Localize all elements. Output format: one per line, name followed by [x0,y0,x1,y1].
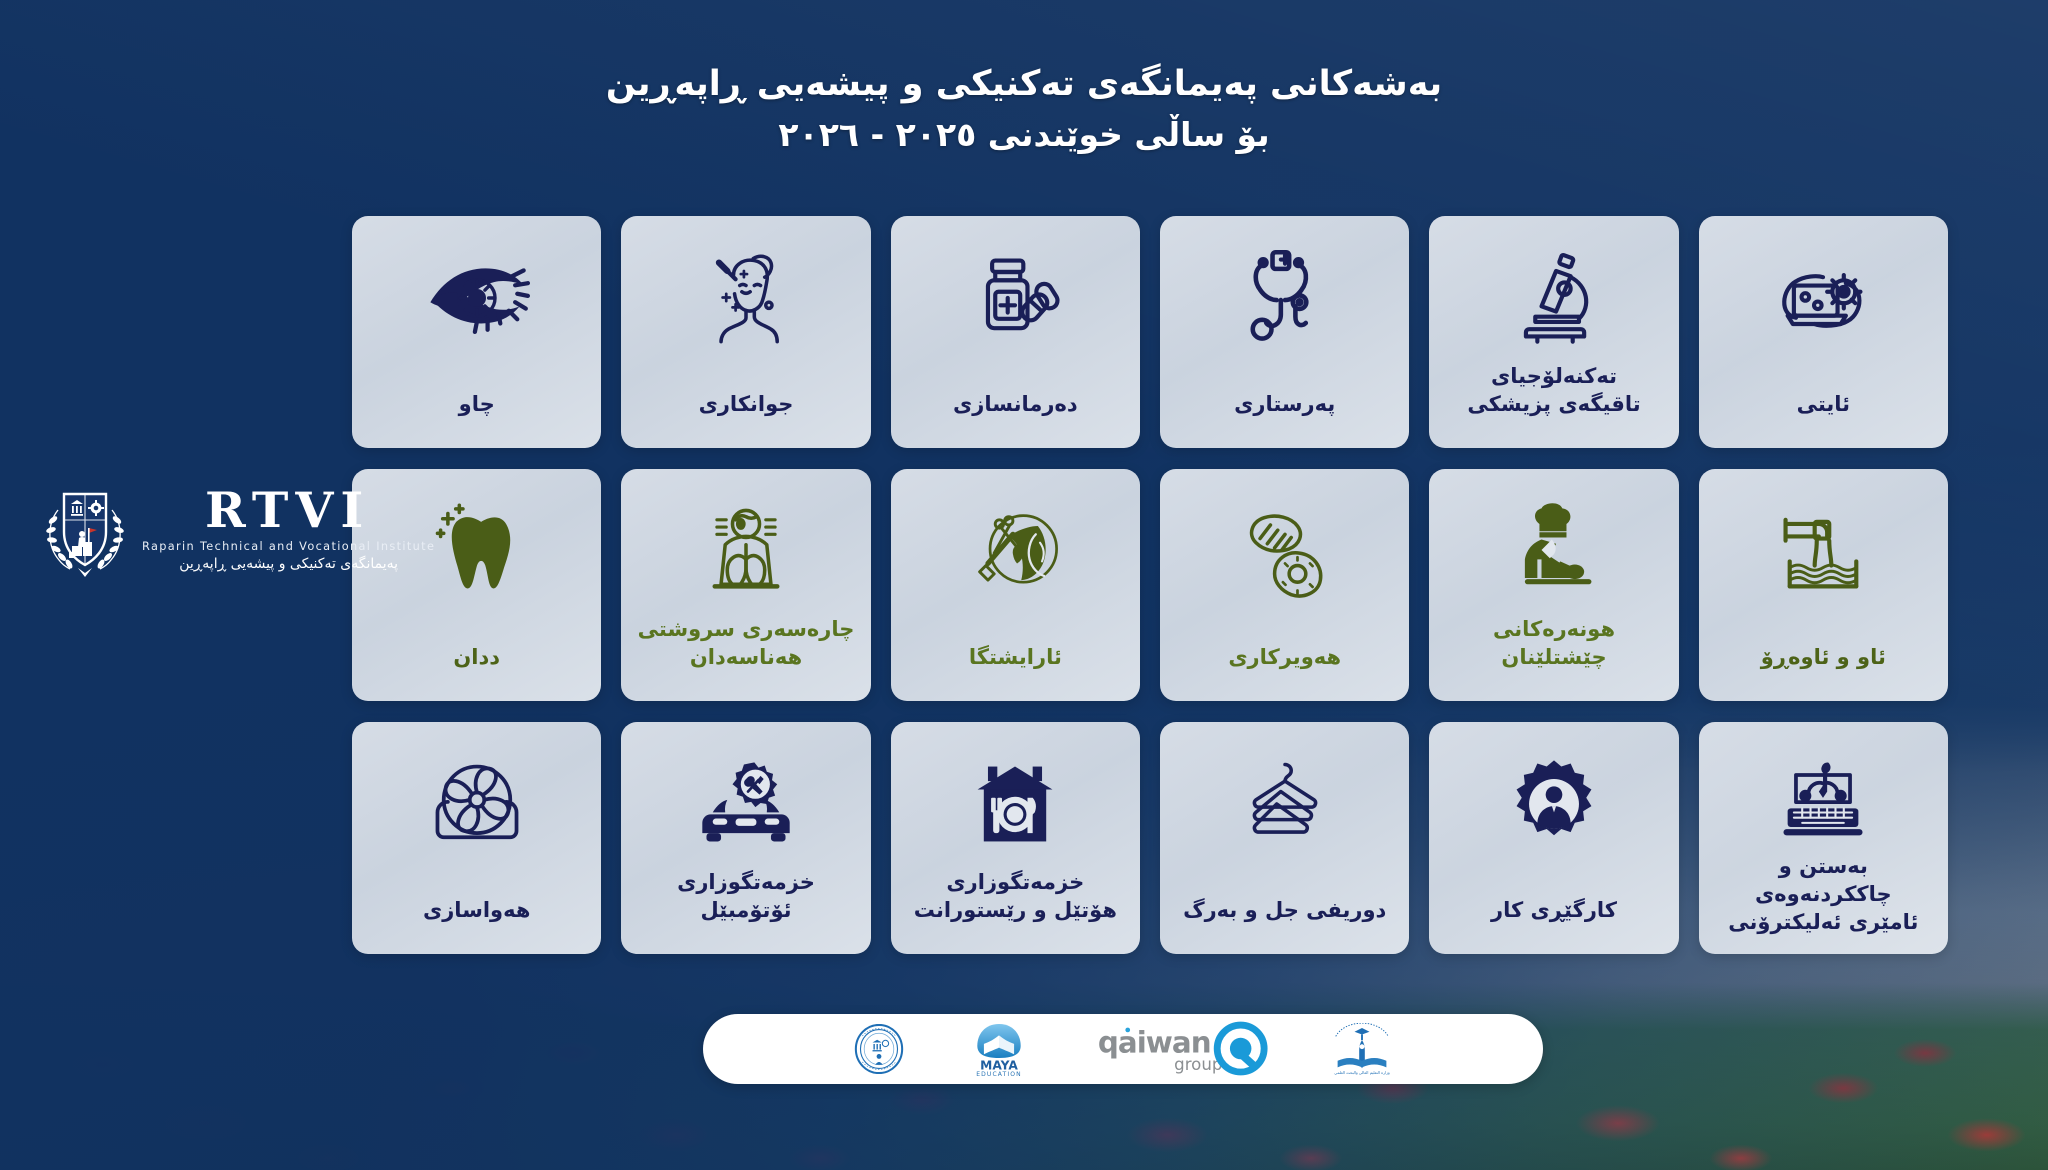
stethoscope-icon [1233,242,1337,354]
university-seal-logo [854,1024,904,1074]
group-wordmark: group [1174,1055,1222,1074]
poster-stage: بەشەکانی پەیمانگەی تەکنیکی و پیشەیی ڕاپە… [0,0,2048,1170]
department-card[interactable]: چارەسەری سروشتیهەناسەدان [621,469,870,701]
laptop-gear-icon [1771,242,1875,354]
department-card[interactable]: جوانکاری [621,216,870,448]
hotel-restaurant-icon [963,748,1067,860]
department-card[interactable]: ئارایشتگا [891,469,1140,701]
department-label: هەواسازی [419,896,534,924]
car-service-icon [694,748,798,860]
face-beauty-icon [694,242,798,354]
department-label: چارەسەری سروشتیهەناسەدان [634,615,859,671]
microscope-icon [1502,242,1606,354]
bread-donut-icon [1233,495,1337,607]
departments-grid: ئایتی تەکنەلۆجیایتاقیگەی پزیشکی پەرستاری… [352,216,1948,954]
department-label: هونەرەکانی چێشتلێنان [1441,615,1666,671]
crest-shield-icon [42,480,128,578]
lungs-therapy-icon [694,495,798,607]
department-label: پەرستاری [1230,390,1339,418]
brand-name: RTVI [205,486,372,535]
department-card[interactable]: ئاو و ئاوەڕۆ [1699,469,1948,701]
brand-kurdish-name: پەیمانگەی تەکنیکی و پیشەیی ڕاپەڕین [179,556,398,572]
poster-header: بەشەکانی پەیمانگەی تەکنیکی و پیشەیی ڕاپە… [0,60,2048,158]
department-label: جوانکاری [695,390,798,418]
department-card[interactable]: تەکنەلۆجیایتاقیگەی پزیشکی [1429,216,1678,448]
department-label: چاو [455,390,499,418]
department-card[interactable]: چاو [352,216,601,448]
department-card[interactable]: خزمەتگوزاریهۆتێل و رێستورانت [891,722,1140,954]
salon-icon [963,495,1067,607]
maya-education-logo: MAYA EDUCATION [966,1022,1032,1077]
department-label: ئایتی [1793,390,1854,418]
department-label: تەکنەلۆجیایتاقیگەی پزیشکی [1463,362,1644,418]
department-label: کارگێڕی کار [1487,896,1621,924]
department-label: دوریفی جل و بەرگ [1179,896,1390,924]
tooth-icon [425,495,529,607]
qaiwan-group-logo: qaiwan group [1094,1021,1270,1078]
department-label: هەویرکاری [1224,643,1345,671]
department-card[interactable]: دوریفی جل و بەرگ [1160,722,1409,954]
department-label: ئارایشتگا [965,643,1066,671]
department-card[interactable]: هەواسازی [352,722,601,954]
eye-icon [424,242,530,354]
chef-icon [1502,495,1606,607]
department-card[interactable]: هونەرەکانی چێشتلێنان [1429,469,1678,701]
department-label: ئاو و ئاوەڕۆ [1757,643,1890,671]
ministry-seal-logo: وزارة التعليم العالي والبحث العلمي [1332,1023,1392,1076]
brand-english-name: Raparin Technical and Vocational Institu… [142,540,435,553]
department-card[interactable]: بەستن و چاککردنەوەیئامێری ئەلیکترۆنی [1699,722,1948,954]
department-card[interactable]: ئایتی [1699,216,1948,448]
laptop-repair-icon [1771,748,1875,852]
department-card[interactable]: خزمەتگوزاری ئۆتۆمبێل [621,722,870,954]
department-label: خزمەتگوزاریهۆتێل و رێستورانت [910,868,1121,924]
pill-bottle-icon [963,242,1067,354]
partner-logo-bar: MAYA EDUCATION qaiwan group [703,1014,1543,1084]
fan-hvac-icon [425,748,529,860]
water-pipe-icon [1771,495,1875,607]
gear-person-icon [1502,748,1606,860]
ministry-arabic-caption: وزارة التعليم العالي والبحث العلمي [1334,1069,1390,1074]
page-subtitle: بۆ ساڵی خوێندنی ٢٠٢٥ - ٢٠٢٦ [0,112,2048,158]
department-card[interactable]: هەویرکاری [1160,469,1409,701]
brand-text-block: RTVI Raparin Technical and Vocational In… [142,486,435,572]
department-card[interactable]: پەرستاری [1160,216,1409,448]
department-card[interactable]: دەرمانسازی [891,216,1140,448]
department-label: ددان [449,643,504,671]
clothes-hanger-icon [1233,748,1337,860]
department-label: خزمەتگوزاری ئۆتۆمبێل [633,868,858,924]
department-card[interactable]: کارگێڕی کار [1429,722,1678,954]
department-label: دەرمانسازی [949,390,1082,418]
education-wordmark: EDUCATION [976,1070,1022,1076]
rtvi-logo: RTVI Raparin Technical and Vocational In… [42,480,435,578]
department-label: بەستن و چاککردنەوەیئامێری ئەلیکترۆنی [1711,852,1936,936]
page-title: بەشەکانی پەیمانگەی تەکنیکی و پیشەیی ڕاپە… [0,60,2048,108]
